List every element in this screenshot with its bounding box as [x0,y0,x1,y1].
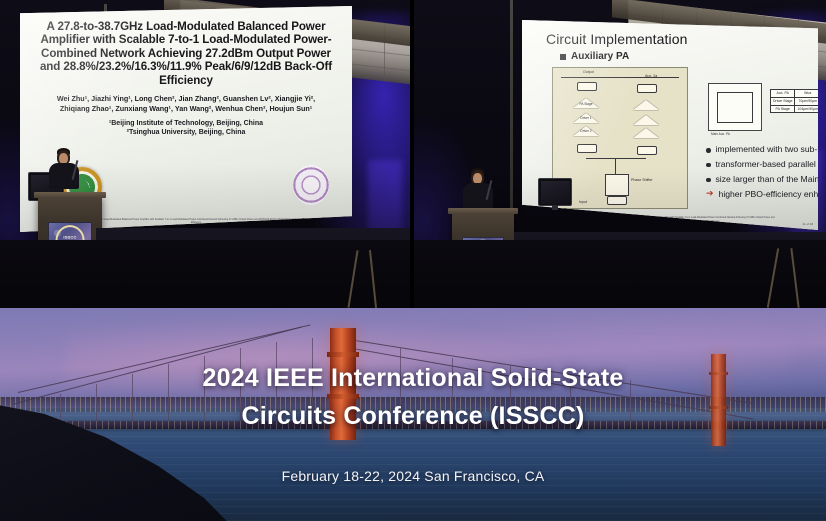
banner-date-location: February 18-22, 2024 San Francisco, CA [0,468,826,484]
transformer-icon [637,84,657,93]
diagram-label-output: Output [583,70,594,74]
bullet-text: transformer-based parallel power divider [716,160,819,170]
table-cell: PA Stage [771,105,795,113]
driver1-label: Driver 1 [571,116,601,120]
list-item: transformer-based parallel power divider [706,160,818,170]
slide-page-number: 11 of 18 [802,222,813,226]
bullet-dot-icon [706,148,711,153]
table-cell: Driver Stage [771,97,795,105]
aux-pa-table: Aux. PA Wua Fingers Driver Stage 70µm/90… [770,89,818,113]
slide-title: A 27.8-to-38.7GHz Load-Modulated Balance… [32,20,340,87]
stage-floor [414,240,826,308]
table-header-cell: Wua [795,90,818,98]
photo-right-circuit-slide: Circuit Implementation Auxiliary PA Outp… [414,0,826,308]
driver2-amplifier-icon [633,128,659,138]
list-item: implemented with two sub-PAs [706,145,818,155]
photo-left-title-slide: A 27.8-to-38.7GHz Load-Modulated Balance… [0,0,410,308]
slide-affiliation-1: ¹Beijing Institute of Technology, Beijin… [28,119,344,128]
diagram-wire [561,77,679,78]
conference-photo-strip: A 27.8-to-38.7GHz Load-Modulated Balance… [0,0,826,308]
slide-body: Output Aux. 2a PA Stage Driver 1 Driver … [530,65,810,215]
driver2-label: Driver 2 [571,129,601,133]
transformer-icon [577,144,597,153]
transformer-icon [607,196,627,205]
bullet-dot-icon [706,163,711,168]
diagram-label-input: Input [579,200,587,204]
table-header-cell: Aux. PA [771,90,795,98]
slide-subtitle-row: Auxiliary PA [560,51,810,62]
square-bullet-icon [560,54,566,60]
driver1-amplifier-icon [633,115,659,125]
slide-subtitle: Auxiliary PA [571,51,629,62]
slide-title: Circuit Implementation [546,31,810,47]
list-item: ➔ higher PBO-efficiency enhancement [706,190,818,200]
slide-authors-line-1: Wei Zhu¹, Jiazhi Ying¹, Long Chen², Jian… [30,94,342,103]
pa-stage-amplifier-icon [633,100,659,110]
slide-affiliation-2: ²Tsinghua University, Beijing, China [28,128,344,137]
slide-authors-line-2: Zhiqiang Zhao¹, Zunxiang Wang¹, Yan Wang… [30,104,342,113]
banner-title-line-2: Circuits Conference (ISSCC) [0,398,826,436]
diagram-wire [586,158,646,159]
table-header-row: Aux. PA Wua Fingers [771,90,819,98]
banner-title: 2024 IEEE International Solid-State Circ… [0,360,826,435]
arrow-right-icon: ➔ [706,189,714,198]
tsinghua-university-logo-icon [293,165,329,205]
screenshot-root: A 27.8-to-38.7GHz Load-Modulated Balance… [0,0,826,521]
schematic-caption: Main Aux. PA [711,132,730,136]
auxiliary-pa-block-diagram: Output Aux. 2a PA Stage Driver 1 Driver … [552,67,688,209]
confidence-monitor [538,178,572,206]
bullet-text: size larger than of the Main PA [716,175,819,185]
transformer-icon [577,82,597,91]
table-cell: 70µm/90µm [795,97,818,105]
table-cell: 104µm/90µm [795,105,818,113]
table-row: Driver Stage 70µm/90µm 230 [771,97,819,105]
phase-shifter-label: Phase Shifter [631,178,653,182]
podium-top-surface [34,192,106,198]
bullet-dot-icon [706,178,711,183]
isscc-2024-banner: 2024 IEEE International Solid-State Circ… [0,308,826,521]
pa-stage-label: PA Stage [571,102,601,106]
phase-shifter-icon [605,174,629,196]
banner-title-line-1: 2024 IEEE International Solid-State [0,360,826,398]
bullet-text: implemented with two sub-PAs [716,145,819,155]
transformer-icon [637,146,657,155]
list-item: size larger than of the Main PA [706,175,818,185]
podium-top-surface [448,208,518,214]
table-row: PA Stage 104µm/90µm 360 [771,105,819,113]
bullet-text: higher PBO-efficiency enhancement [719,190,818,200]
bullet-list: implemented with two sub-PAs transformer… [706,145,818,205]
main-aux-pa-schematic: Main Aux. PA [708,83,762,131]
